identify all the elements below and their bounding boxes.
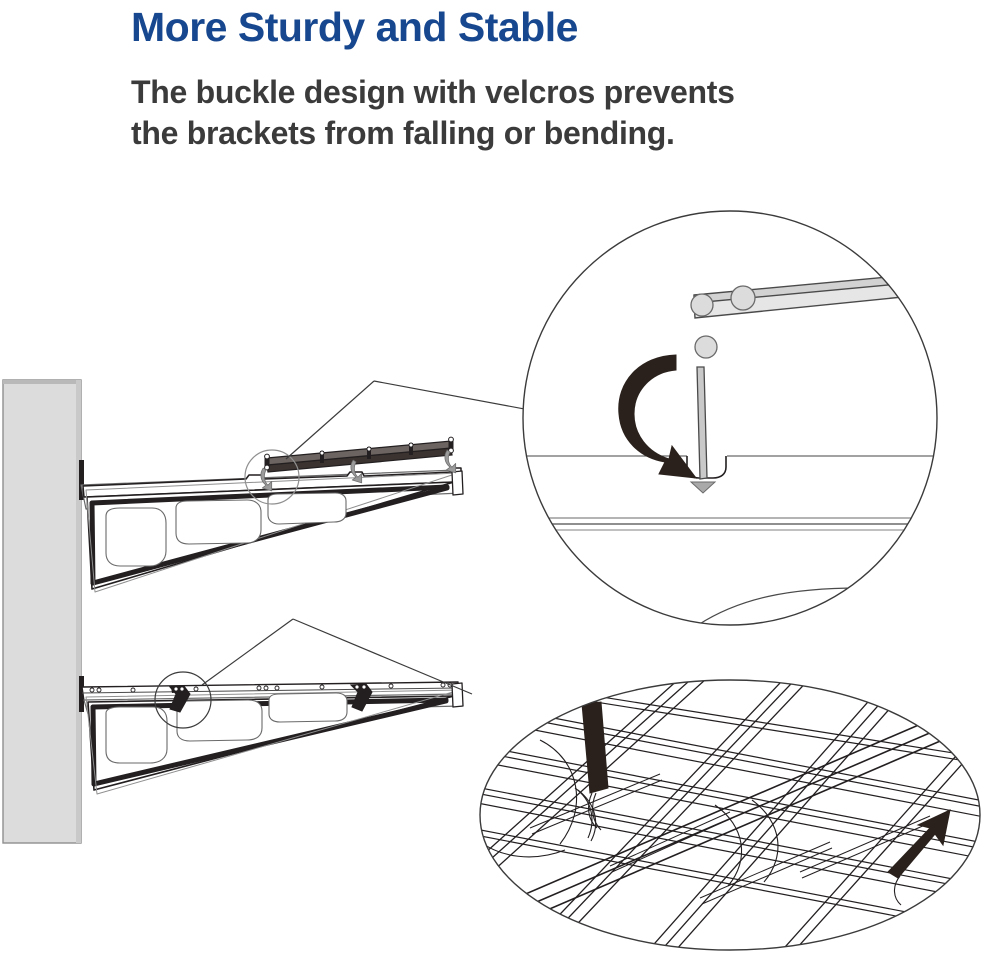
wall-panel (3, 380, 81, 843)
rack-overview-callout (455, 660, 999, 958)
upper-velcro-strap (265, 437, 454, 472)
buckle-detail-callout (520, 208, 952, 630)
product-illustration (0, 0, 999, 958)
lower-shelf-bracket (79, 676, 463, 794)
product-feature-card: More Sturdy and Stable The buckle design… (0, 0, 999, 958)
upper-shelf-bracket (79, 460, 463, 592)
